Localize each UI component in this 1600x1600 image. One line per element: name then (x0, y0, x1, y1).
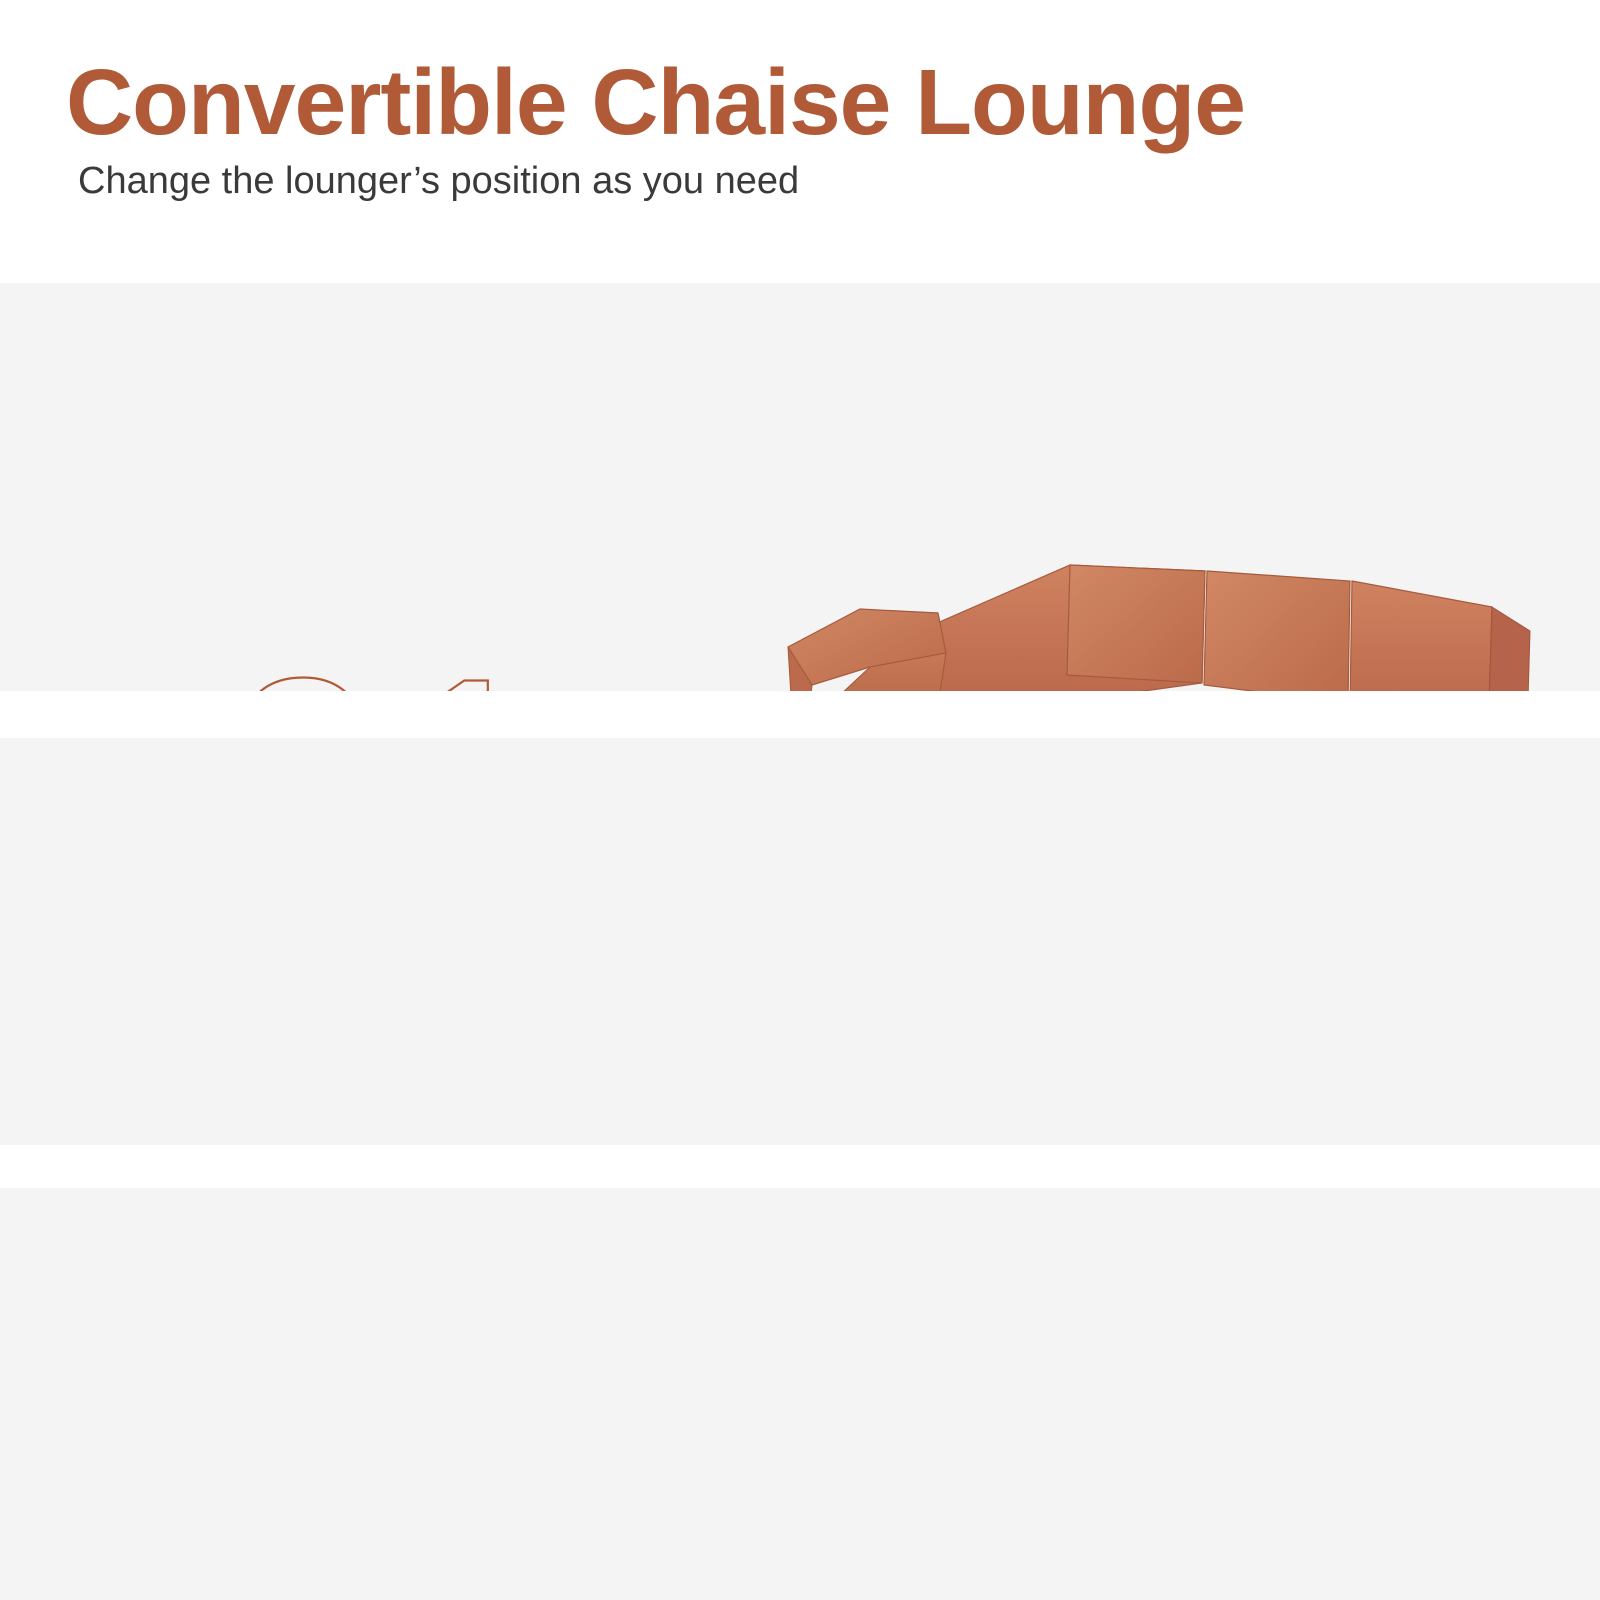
page-subtitle: Change the lounger’s position as you nee… (78, 162, 799, 200)
header: Convertible Chaise Lounge Change the lou… (0, 0, 1600, 283)
back-cushion (1067, 565, 1205, 683)
step-number-01: 01 (222, 635, 557, 691)
page-title: Convertible Chaise Lounge (66, 56, 1245, 149)
step-band-02: 02 (0, 738, 1600, 1145)
sectional-sofa-chaise-right (770, 535, 1600, 691)
back-cushion (1350, 581, 1492, 691)
step-band-03: 03 (0, 1188, 1600, 1600)
step-band-01: 01 (0, 283, 1600, 691)
sofa-back-shell (1488, 607, 1530, 691)
back-cushion (1204, 571, 1350, 691)
